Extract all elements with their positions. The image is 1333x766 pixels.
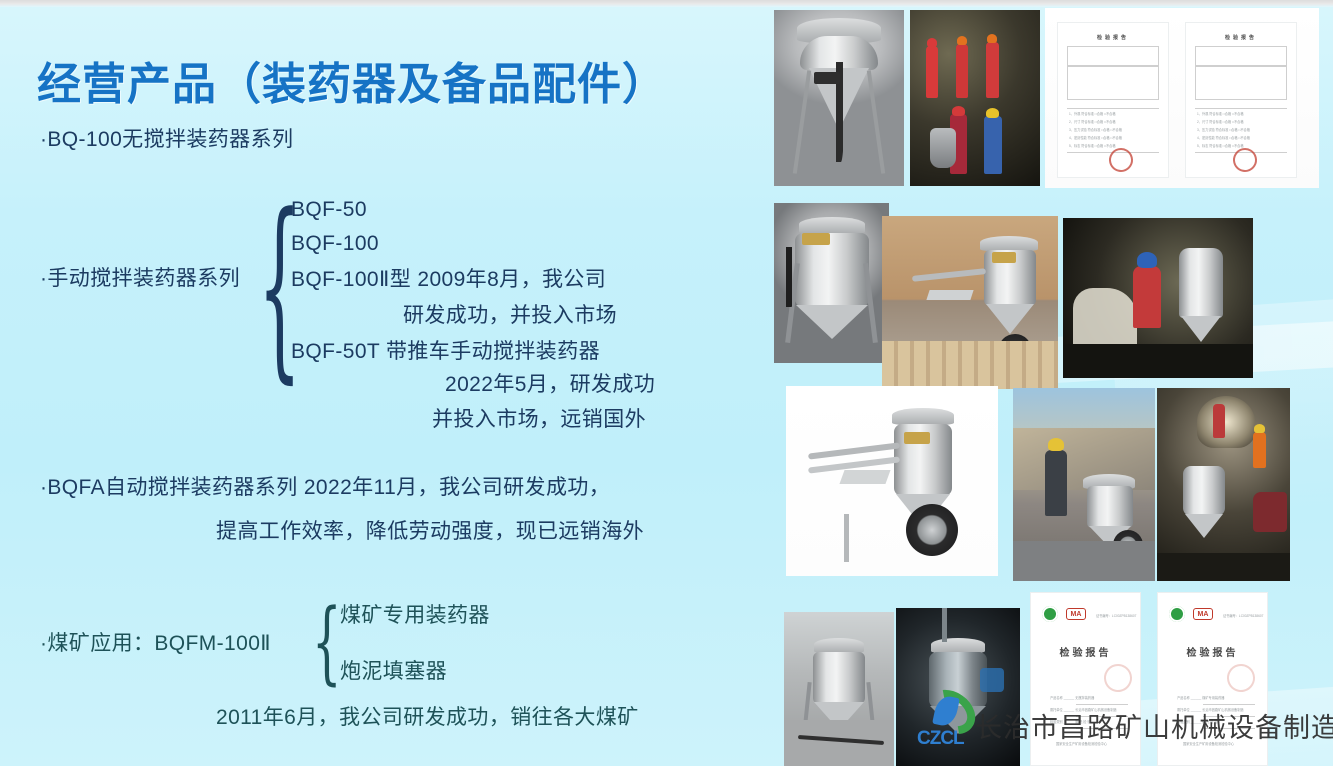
safety-mark-icon [1169, 606, 1185, 622]
item-bqf-50t-cont-2: 并投入市场，远销国外 [432, 403, 646, 433]
photo-bqf-50t-cart-on-pallet [882, 216, 1058, 389]
item-bqf-100: BQF-100 [291, 232, 379, 256]
photo-grid: 检验报告 1、外观 符合标准 □合格 □不合格 2、尺寸 符合标准 □合格 □不… [760, 0, 1333, 766]
item-stemming-device: 炮泥填塞器 [340, 655, 447, 685]
bullet-manual-series-label: ·手动搅拌装药器系列 [40, 262, 240, 292]
bullet-bqfa-line2: 提高工作效率，降低劳动强度，现已远销海外 [216, 515, 644, 545]
photo-bqfa-cart-studio [786, 386, 998, 576]
bullet-coal-note: 2011年6月，我公司研发成功，销往各大煤矿 [216, 701, 639, 731]
page-title: 经营产品（装药器及备品配件） [37, 48, 667, 112]
photo-bqf-100-vessel [774, 203, 889, 363]
item-bqf-50t-cont-1: 2022年5月，研发成功 [445, 368, 655, 398]
photo-inspection-report-right: MA 证书编号：LC00ZPB138607 检验报告 产品名称 ______ 煤… [1157, 592, 1268, 766]
item-bqf-50t: BQF-50T 带推车手动搅拌装药器 [291, 335, 600, 365]
certificate-sheet-left: 检验报告 1、外观 符合标准 □合格 □不合格 2、尺寸 符合标准 □合格 □不… [1057, 22, 1169, 178]
logo-wordmark: CZCL [917, 728, 964, 750]
item-bqf-100ii-cont: 研发成功，并投入市场 [403, 299, 617, 329]
photo-outdoor-operator-with-cart [1013, 388, 1155, 581]
photo-tunnel-operator-charging [1063, 218, 1253, 378]
certificate-sheet-right: 检验报告 1、外观 符合标准 □合格 □不合格 2、尺寸 符合标准 □合格 □不… [1185, 22, 1297, 178]
photo-underground-crew-charging [910, 10, 1040, 186]
brace-coal-application: { [312, 597, 342, 687]
safety-mark-icon [1042, 606, 1058, 622]
photo-tunnel-team-charging [1157, 388, 1290, 581]
photo-bq-100-charger-studio [774, 10, 904, 186]
item-bqf-50: BQF-50 [291, 198, 367, 222]
item-bqf-100ii: BQF-100Ⅱ型 2009年8月，我公司 [291, 263, 606, 293]
ma-mark-icon: MA [1066, 608, 1086, 620]
report-title-right: 检验报告 [1157, 644, 1268, 659]
photo-inspection-certificates-pair: 检验报告 1、外观 符合标准 □合格 □不合格 2、尺寸 符合标准 □合格 □不… [1045, 8, 1319, 188]
photo-inspection-report-left: MA 证书编号：LC00ZPB138607 检验报告 产品名称 ______ 无… [1030, 592, 1141, 766]
text-column: 经营产品（装药器及备品配件） ·BQ-100无搅拌装药器系列 ·手动搅拌装药器系… [0, 0, 760, 766]
report-title-left: 检验报告 [1030, 644, 1141, 659]
bullet-coal-application-label: ·煤矿应用：BQFM-100Ⅱ [40, 627, 271, 657]
ma-mark-icon: MA [1193, 608, 1213, 620]
slide-canvas: 经营产品（装药器及备品配件） ·BQ-100无搅拌装药器系列 ·手动搅拌装药器系… [0, 0, 1333, 766]
certificate-title-right: 检验报告 [1185, 34, 1297, 41]
photo-bqfm-100ii-workshop [784, 612, 894, 766]
item-coal-charger: 煤矿专用装药器 [340, 599, 490, 629]
company-logo: CZCL [915, 690, 985, 756]
certificate-title-left: 检验报告 [1057, 34, 1169, 41]
bullet-bq100: ·BQ-100无搅拌装药器系列 [40, 123, 293, 153]
bullet-bqfa-line1: ·BQFA自动搅拌装药器系列 2022年11月，我公司研发成功， [40, 471, 610, 501]
